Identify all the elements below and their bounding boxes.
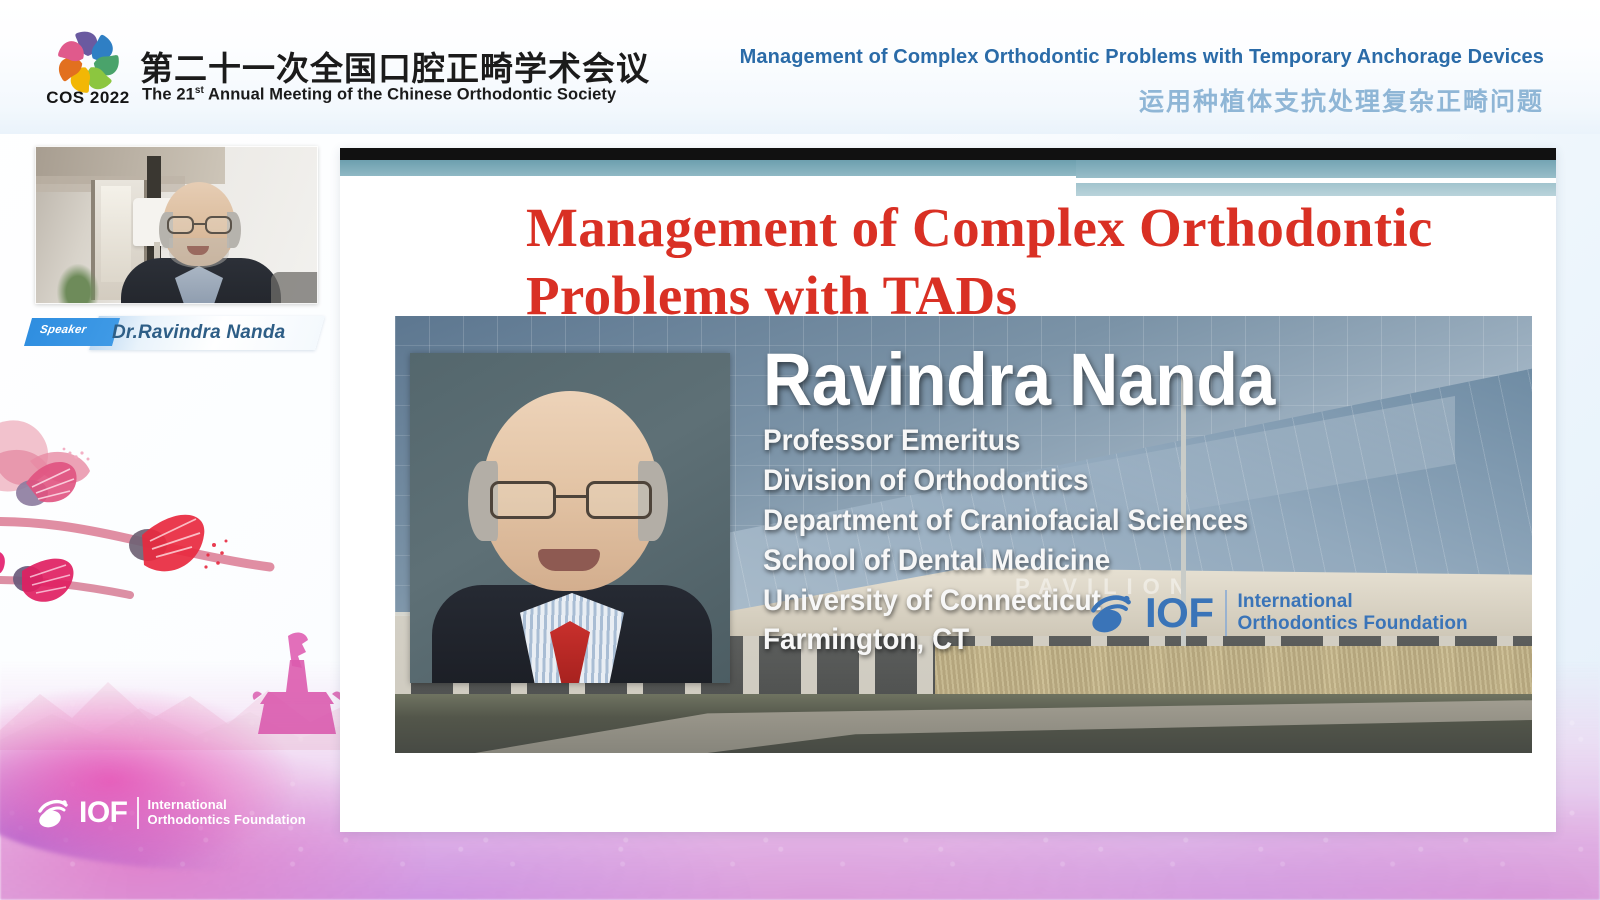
iof-tagline-line2: Orthodontics Foundation bbox=[1238, 613, 1468, 635]
meeting-title-en-post: Annual Meeting of the Chinese Orthodonti… bbox=[204, 86, 616, 104]
iof-divider bbox=[137, 797, 139, 829]
speaker-video-thumbnail[interactable] bbox=[35, 146, 318, 304]
portrait-mouth bbox=[538, 549, 600, 571]
slide-white-accent-strip bbox=[1076, 178, 1556, 183]
slide-hero-image: PAVILION Ravindra Nanda Professor Emerit… bbox=[395, 316, 1532, 753]
iof-tagline-line1: International bbox=[148, 798, 306, 813]
meeting-title-en-pre: The 21 bbox=[142, 86, 195, 104]
iof-swoosh-icon bbox=[1088, 590, 1134, 636]
conference-header: COS 2022 第二十一次全国口腔正畸学术会议 The 21st Annual… bbox=[0, 0, 1600, 134]
slide-iof-logo: IOF International Orthodontics Foundatio… bbox=[1088, 585, 1508, 641]
speaker-name: Dr.Ravindra Nanda bbox=[112, 322, 342, 344]
meeting-title-chinese: 第二十一次全国口腔正畸学术会议 bbox=[140, 42, 650, 90]
iof-tagline: International Orthodontics Foundation bbox=[1238, 591, 1468, 634]
iof-swoosh-icon bbox=[36, 796, 70, 830]
slide-top-black-bar bbox=[340, 148, 1556, 160]
iof-wordmark: IOF bbox=[79, 798, 128, 828]
presentation-viewer: COS 2022 第二十一次全国口腔正畸学术会议 The 21st Annual… bbox=[0, 0, 1600, 900]
portrait-glasses bbox=[486, 481, 658, 521]
presenter-name-overlay: Ravindra Nanda bbox=[763, 344, 1275, 417]
meeting-title-en-ordinal: st bbox=[195, 85, 204, 96]
flower-branch-decoration bbox=[0, 395, 310, 645]
cos-badge-label: COS 2022 bbox=[40, 88, 136, 108]
slide-title-line-1: Management of Complex Orthodontic bbox=[526, 194, 1536, 262]
credential-line: School of Dental Medicine bbox=[763, 541, 1451, 581]
presenter-portrait-photo bbox=[410, 353, 730, 683]
iof-tagline-line1: International bbox=[1238, 591, 1468, 613]
credential-line: Department of Craniofacial Sciences bbox=[763, 501, 1451, 541]
webcam-frame-border bbox=[35, 146, 318, 304]
iof-logo-watermark: IOF International Orthodontics Foundatio… bbox=[36, 790, 316, 836]
talk-title-english: Management of Complex Orthodontic Proble… bbox=[740, 46, 1544, 69]
iof-tagline: International Orthodontics Foundation bbox=[148, 798, 306, 828]
talk-title-chinese: 运用种植体支抗处理复杂正畸问题 bbox=[1139, 82, 1544, 118]
credential-line: Professor Emeritus bbox=[763, 421, 1451, 461]
iof-wordmark: IOF bbox=[1145, 592, 1214, 634]
iof-divider bbox=[1225, 590, 1227, 636]
speaker-name-bar: Speaker Dr.Ravindra Nanda bbox=[28, 316, 320, 352]
presentation-slide[interactable]: Management of Complex Orthodontic Proble… bbox=[340, 148, 1556, 832]
credential-line: Division of Orthodontics bbox=[763, 461, 1451, 501]
iof-tagline-line2: Orthodontics Foundation bbox=[148, 813, 306, 828]
meeting-title-english: The 21st Annual Meeting of the Chinese O… bbox=[142, 85, 616, 105]
slide-title: Management of Complex Orthodontic Proble… bbox=[526, 194, 1536, 330]
